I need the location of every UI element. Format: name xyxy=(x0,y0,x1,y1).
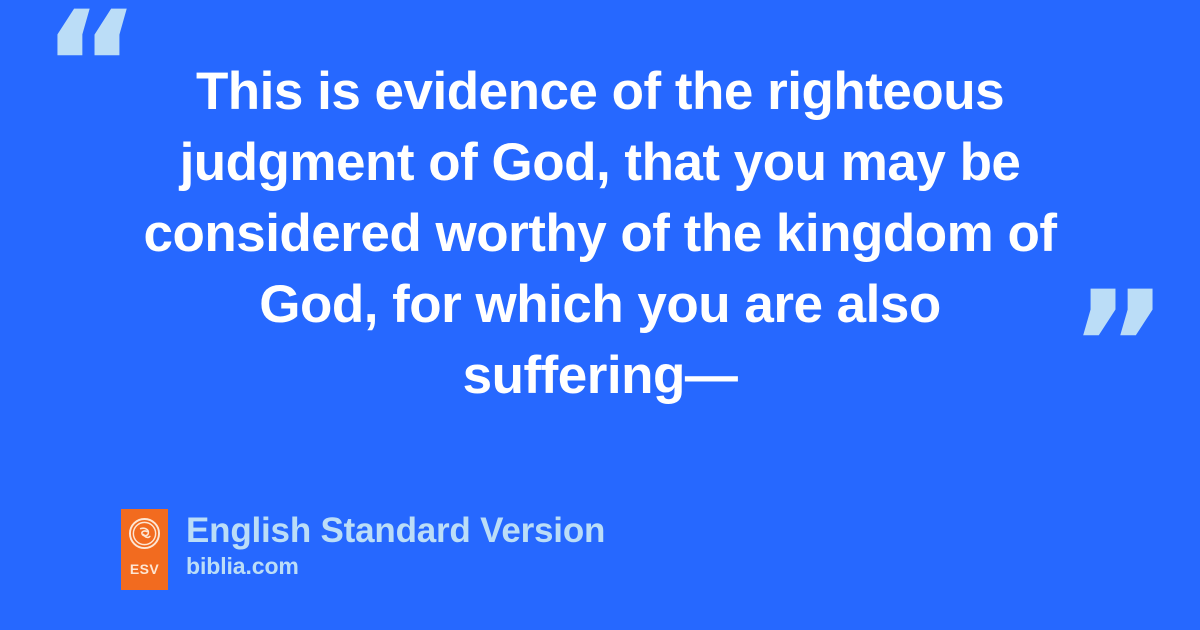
quote-line: suffering— xyxy=(92,340,1108,411)
quote-text-block: This is evidence of the righteous judgme… xyxy=(92,56,1108,411)
bible-version-name: English Standard Version xyxy=(186,510,605,552)
attribution-footer: ESV English Standard Version biblia.com xyxy=(121,509,605,590)
esv-badge-label: ESV xyxy=(130,562,159,576)
quote-line: This is evidence of the righteous xyxy=(92,56,1108,127)
site-name: biblia.com xyxy=(186,552,605,581)
esv-logo-badge: ESV xyxy=(121,509,168,590)
esv-seal-icon xyxy=(129,518,160,549)
verse-image-card: “ This is evidence of the righteous judg… xyxy=(0,0,1200,630)
quote-line: judgment of God, that you may be xyxy=(92,127,1108,198)
attribution-text: English Standard Version biblia.com xyxy=(186,509,605,581)
closing-quote-icon: ” xyxy=(1069,272,1166,422)
quote-line: considered worthy of the kingdom of xyxy=(92,198,1108,269)
quote-line: God, for which you are also xyxy=(92,269,1108,340)
